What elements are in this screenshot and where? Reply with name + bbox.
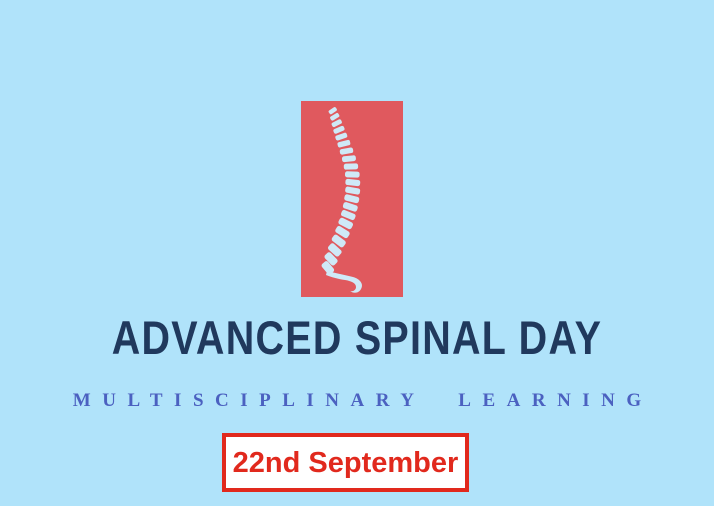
page-subtitle: MULTISCIPLINARY LEARNING [61,390,652,412]
subtitle-word-gap [426,390,459,411]
subtitle-word-learning: LEARNING [458,390,652,411]
page-title: ADVANCED SPINAL DAY [112,313,602,363]
spine-logo-mark [301,101,403,297]
subtitle-word-multisciplinary: MULTISCIPLINARY [73,390,426,411]
spine-icon [301,101,403,297]
subtitle-container: MULTISCIPLINARY LEARNING [0,390,714,412]
date-badge: 22nd September [222,433,469,492]
poster-canvas: ADVANCED SPINAL DAY MULTISCIPLINARY LEAR… [0,0,714,506]
date-badge-label: 22nd September [233,447,459,479]
title-container: ADVANCED SPINAL DAY [0,313,714,363]
